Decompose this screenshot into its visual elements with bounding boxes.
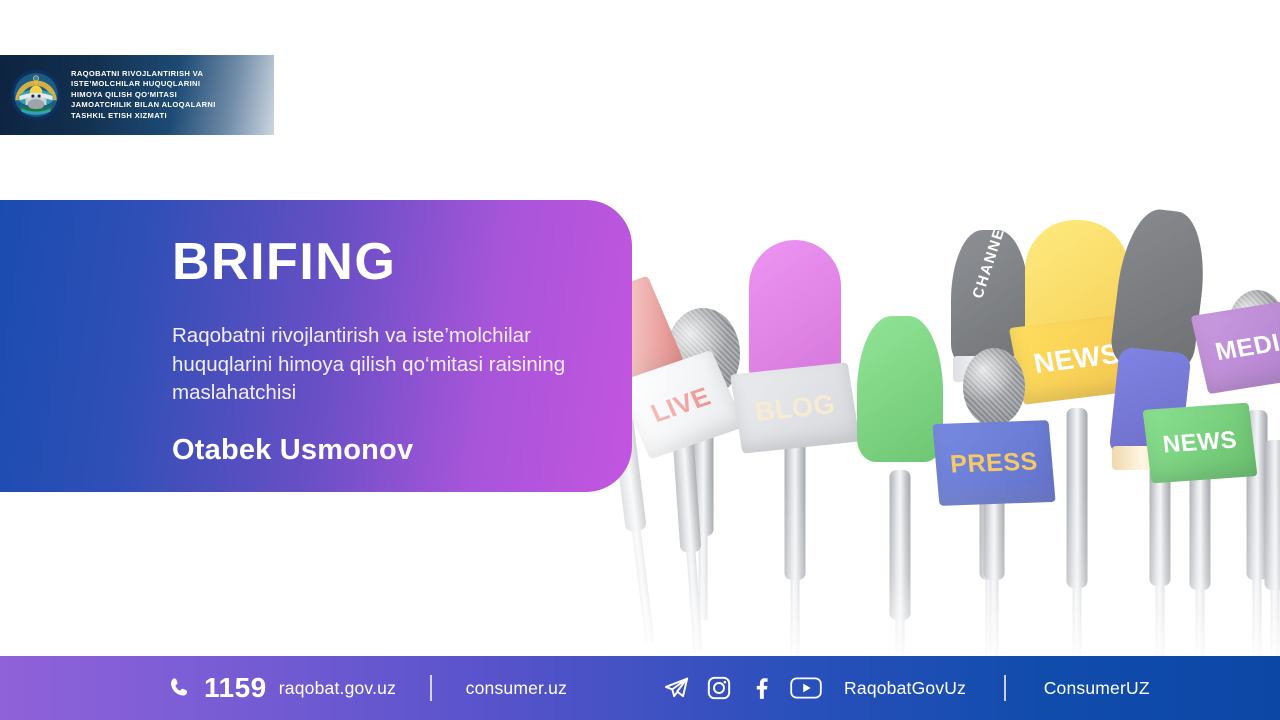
org-line-2: ISTE’MOLCHILAR HUQUQLARINI xyxy=(71,79,216,90)
social-handle-secondary[interactable]: ConsumerUZ xyxy=(1044,678,1150,699)
briefing-announcement-slide: TV LIVE BLOG xyxy=(0,0,1280,720)
microphones-photo: TV LIVE BLOG xyxy=(580,135,1280,660)
org-line-5: TASHKIL ETISH XIZMATI xyxy=(71,111,216,122)
organization-header: RAQOBATNI RIVOJLANTIRISH VA ISTE’MOLCHIL… xyxy=(0,55,300,135)
hotline-number[interactable]: 1159 xyxy=(204,672,267,704)
org-line-4: JAMOATCHILIK BILAN ALOQALARNI xyxy=(71,100,216,111)
instagram-icon[interactable] xyxy=(706,675,732,701)
page-title: BRIFING xyxy=(172,236,592,288)
youtube-icon[interactable] xyxy=(790,676,822,700)
website-secondary-link[interactable]: consumer.uz xyxy=(466,678,567,699)
phone-icon xyxy=(168,676,192,700)
org-line-1: RAQOBATNI RIVOJLANTIRISH VA xyxy=(71,69,216,80)
contact-footer: 1159 raqobat.gov.uz consumer.uz xyxy=(0,656,1280,720)
social-handle-primary[interactable]: RaqobatGovUz xyxy=(844,678,966,699)
mic-flag-blog: BLOG xyxy=(730,362,860,453)
mic-flag-live: LIVE xyxy=(616,350,745,459)
briefing-card: BRIFING Raqobatni rivojlantirish va iste… xyxy=(0,200,632,492)
footer-divider-1 xyxy=(430,675,432,701)
briefing-subtitle: Raqobatni rivojlantirish va iste’molchil… xyxy=(172,322,592,408)
microphone-far-right xyxy=(1240,360,1280,660)
microphone-blog: BLOG xyxy=(730,240,860,660)
uzbekistan-state-emblem-icon xyxy=(10,69,62,121)
org-line-3: HIMOYA QILISH QO‘MITASI xyxy=(71,90,216,101)
footer-divider-2 xyxy=(1004,675,1006,701)
website-primary-link[interactable]: raqobat.gov.uz xyxy=(279,678,396,699)
telegram-icon[interactable] xyxy=(663,675,690,702)
footer-contact-group: 1159 raqobat.gov.uz consumer.uz xyxy=(168,672,567,704)
footer-social-group: RaqobatGovUz ConsumerUZ xyxy=(663,675,1150,702)
mic-flag-press: PRESS xyxy=(932,420,1055,506)
microphone-press: PRESS xyxy=(930,330,1058,660)
organization-name: RAQOBATNI RIVOJLANTIRISH VA ISTE’MOLCHIL… xyxy=(71,69,216,122)
facebook-icon[interactable] xyxy=(748,675,774,701)
speaker-name: Otabek Usmonov xyxy=(172,434,592,467)
